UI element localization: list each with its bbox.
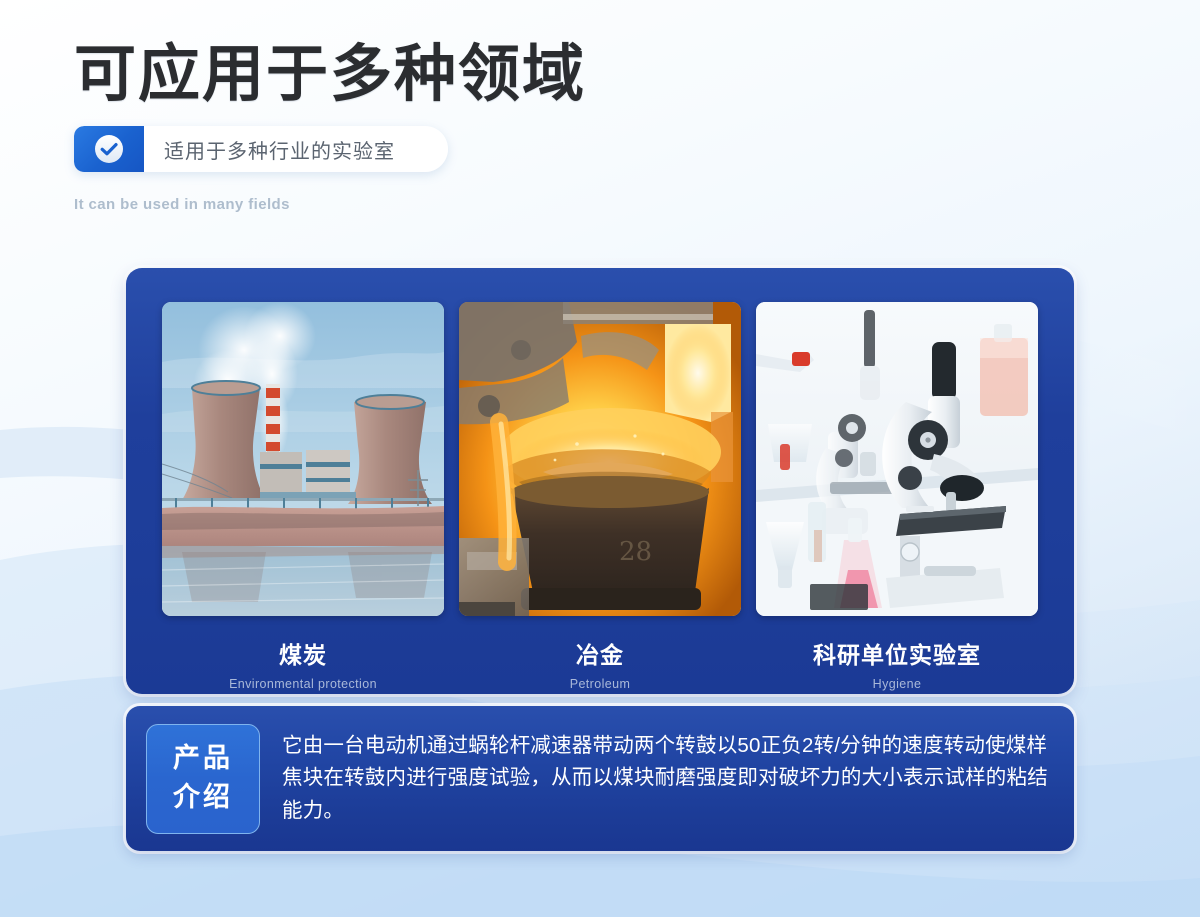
- page-title: 可应用于多种领域: [74, 42, 586, 106]
- check-circle-icon: [74, 126, 144, 172]
- badge-label: 适用于多种行业的实验室: [144, 126, 395, 172]
- page-header: 可应用于多种领域 适用于多种行业的实验室 It can be used in m…: [74, 42, 586, 213]
- product-intro-tag: 产品 介绍: [146, 724, 260, 834]
- subtitle-english: It can be used in many fields: [74, 196, 586, 213]
- molten-metal-ladle-furnace-photo: 28: [459, 302, 741, 616]
- ladle-marking: 28: [619, 537, 652, 567]
- card-subtitle: Petroleum: [459, 677, 741, 691]
- application-card-coal[interactable]: 煤炭 Environmental protection: [162, 302, 444, 691]
- card-subtitle: Hygiene: [756, 677, 1038, 691]
- highlight-badge: 适用于多种行业的实验室: [74, 126, 448, 172]
- application-gallery-panel: 煤炭 Environmental protection: [126, 268, 1074, 694]
- intro-tag-line1: 产品: [173, 740, 233, 778]
- card-title: 煤炭: [162, 636, 444, 670]
- application-card-laboratory[interactable]: 科研单位实验室 Hygiene: [756, 302, 1038, 691]
- application-card-metallurgy[interactable]: 28 冶金: [459, 302, 741, 691]
- card-title: 冶金: [459, 636, 741, 670]
- card-title: 科研单位实验室: [756, 636, 1038, 670]
- cooling-towers-power-plant-photo: [162, 302, 444, 616]
- product-intro-text: 它由一台电动机通过蜗轮杆减速器带动两个转鼓以50正负2转/分钟的速度转动使煤样焦…: [282, 730, 1056, 827]
- promo-page: 可应用于多种领域 适用于多种行业的实验室 It can be used in m…: [0, 0, 1200, 917]
- card-subtitle: Environmental protection: [162, 677, 444, 691]
- intro-tag-line2: 介绍: [173, 779, 233, 817]
- laboratory-microscopes-photo: [756, 302, 1038, 616]
- application-card-list: 煤炭 Environmental protection: [162, 302, 1038, 691]
- product-intro-panel: 产品 介绍 它由一台电动机通过蜗轮杆减速器带动两个转鼓以50正负2转/分钟的速度…: [126, 706, 1074, 851]
